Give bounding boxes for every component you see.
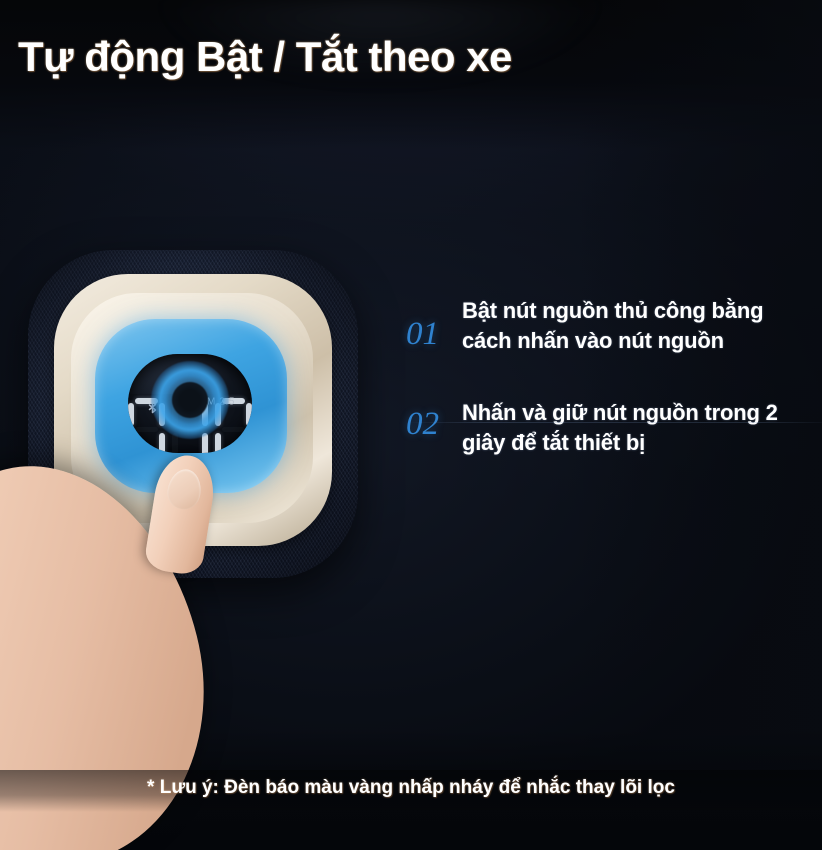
footer-note: * Lưu ý: Đèn báo màu vàng nhấp nháy để n… — [0, 777, 822, 799]
step-number: 02 — [406, 398, 462, 441]
device-display-screen: A — [128, 354, 252, 453]
page-title: Tự động Bật / Tắt theo xe — [18, 33, 512, 81]
fingernail — [165, 467, 204, 512]
steps-divider — [406, 422, 822, 423]
step-text: Nhấn và giữ nút nguồn trong 2 giây để tắ… — [462, 398, 806, 458]
list-item: 01 Bật nút nguồn thủ công bằng cách nhấn… — [406, 296, 806, 356]
power-button-core[interactable] — [172, 382, 208, 418]
step-text: Bật nút nguồn thủ công bằng cách nhấn và… — [462, 296, 806, 356]
promo-slide: Tự động Bật / Tắt theo xe A — [0, 0, 822, 850]
power-button[interactable] — [151, 361, 229, 439]
step-number: 01 — [406, 296, 462, 351]
list-item: 02 Nhấn và giữ nút nguồn trong 2 giây để… — [406, 398, 806, 458]
steps-list: 01 Bật nút nguồn thủ công bằng cách nhấn… — [406, 296, 806, 458]
